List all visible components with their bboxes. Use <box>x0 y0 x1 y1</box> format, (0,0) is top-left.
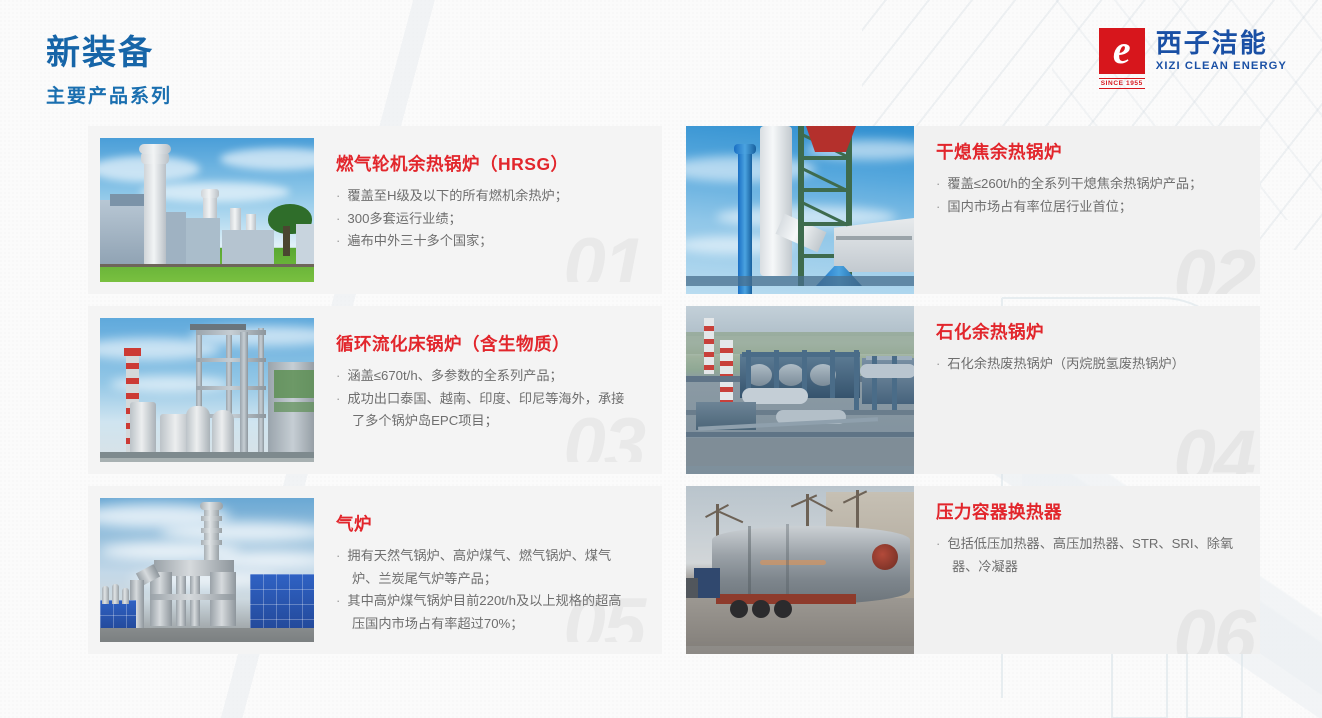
gas-fired-boiler-plant-photo <box>100 498 314 642</box>
card-watermark-number-01: 01 <box>563 228 644 282</box>
bullet-text: 包括低压加热器、高压加热器、STR、SRI、除氧器、冷凝器 <box>947 536 1233 574</box>
card-title-06: 压力容器换热器 <box>936 502 1242 524</box>
product-card-06[interactable]: 压力容器换热器 ·包括低压加热器、高压加热器、STR、SRI、除氧器、冷凝器 0… <box>686 486 1260 654</box>
logo-since-text: SINCE 1955 <box>1099 78 1145 89</box>
product-card-01[interactable]: 燃气轮机余热锅炉（HRSG） ·覆盖至H级及以下的所有燃机余热炉； ·300多套… <box>88 126 662 294</box>
card-bullets-04: ·石化余热废热锅炉（丙烷脱氢废热锅炉） <box>936 353 1242 376</box>
bullet-text: 覆盖至H级及以下的所有燃机余热炉； <box>347 188 568 203</box>
title-block: 新装备 主要产品系列 <box>46 33 172 108</box>
bullet-marker: · <box>336 188 340 203</box>
card-body-01: 燃气轮机余热锅炉（HRSG） ·覆盖至H级及以下的所有燃机余热炉； ·300多套… <box>314 138 650 282</box>
card-body-02: 干熄焦余热锅炉 ·覆盖≤260t/h的全系列干熄焦余热锅炉产品； ·国内市场占有… <box>914 126 1260 294</box>
logo-e-letter: e <box>1099 28 1145 74</box>
bullet-marker: · <box>336 368 340 383</box>
list-item: ·覆盖至H级及以下的所有燃机余热炉； <box>336 185 632 208</box>
logo-e-icon: e <box>1099 28 1145 74</box>
page-subtitle: 主要产品系列 <box>46 81 172 108</box>
product-card-03[interactable]: 循环流化床锅炉（含生物质） ·涵盖≤670t/h、多参数的全系列产品； ·成功出… <box>88 306 662 474</box>
dry-quenching-coke-plant-photo <box>686 126 914 294</box>
logo-name-en: XIZI CLEAN ENERGY <box>1156 60 1287 72</box>
product-card-grid: 燃气轮机余热锅炉（HRSG） ·覆盖至H级及以下的所有燃机余热炉； ·300多套… <box>88 126 1260 654</box>
card-body-05: 气炉 ·拥有天然气锅炉、高炉煤气、燃气锅炉、煤气炉、兰炭尾气炉等产品； ·其中高… <box>314 498 650 642</box>
bullet-marker: · <box>936 199 940 214</box>
bullet-marker: · <box>336 548 340 563</box>
bullet-marker: · <box>336 233 340 248</box>
bullet-marker: · <box>336 391 340 406</box>
pressure-vessel-transport-photo <box>686 486 914 654</box>
card-bullets-06: ·包括低压加热器、高压加热器、STR、SRI、除氧器、冷凝器 <box>936 533 1242 578</box>
card-body-04: 石化余热锅炉 ·石化余热废热锅炉（丙烷脱氢废热锅炉） 04 <box>914 306 1260 474</box>
logo-mark: e SINCE 1955 <box>1099 28 1145 89</box>
page-title: 新装备 <box>46 33 172 73</box>
logo-name-cn: 西子洁能 <box>1156 30 1287 57</box>
product-card-02[interactable]: 干熄焦余热锅炉 ·覆盖≤260t/h的全系列干熄焦余热锅炉产品； ·国内市场占有… <box>686 126 1260 294</box>
list-item: ·涵盖≤670t/h、多参数的全系列产品； <box>336 365 632 388</box>
gas-turbine-combined-cycle-plant-photo <box>100 138 314 282</box>
petrochemical-refinery-photo <box>686 306 914 474</box>
product-card-04[interactable]: 石化余热锅炉 ·石化余热废热锅炉（丙烷脱氢废热锅炉） 04 <box>686 306 1260 474</box>
bullet-text: 国内市场占有率位居行业首位； <box>947 199 1132 214</box>
bullet-marker: · <box>336 593 340 608</box>
list-item: ·国内市场占有率位居行业首位； <box>936 196 1242 219</box>
card-bullets-02: ·覆盖≤260t/h的全系列干熄焦余热锅炉产品； ·国内市场占有率位居行业首位； <box>936 173 1242 218</box>
card-watermark-number-04: 04 <box>1173 420 1254 474</box>
page-header: 新装备 主要产品系列 e SINCE 1955 西子洁能 XIZI CLEAN … <box>0 0 1322 120</box>
card-title-04: 石化余热锅炉 <box>936 322 1242 344</box>
list-item: ·石化余热废热锅炉（丙烷脱氢废热锅炉） <box>936 353 1242 376</box>
card-body-03: 循环流化床锅炉（含生物质） ·涵盖≤670t/h、多参数的全系列产品； ·成功出… <box>314 318 650 462</box>
card-title-03: 循环流化床锅炉（含生物质） <box>336 334 632 356</box>
bullet-text: 遍布中外三十多个国家； <box>347 233 492 248</box>
card-title-02: 干熄焦余热锅炉 <box>936 142 1242 164</box>
card-body-06: 压力容器换热器 ·包括低压加热器、高压加热器、STR、SRI、除氧器、冷凝器 0… <box>914 486 1260 654</box>
list-item: ·覆盖≤260t/h的全系列干熄焦余热锅炉产品； <box>936 173 1242 196</box>
card-watermark-number-05: 05 <box>563 588 644 642</box>
bullet-text: 覆盖≤260t/h的全系列干熄焦余热锅炉产品； <box>947 176 1202 191</box>
bullet-text: 石化余热废热锅炉（丙烷脱氢废热锅炉） <box>947 356 1184 371</box>
list-item: ·包括低压加热器、高压加热器、STR、SRI、除氧器、冷凝器 <box>936 533 1242 578</box>
logo-wordmark: 西子洁能 XIZI CLEAN ENERGY <box>1156 28 1287 72</box>
circulating-fluidized-bed-boiler-photo <box>100 318 314 462</box>
bullet-marker: · <box>336 211 340 226</box>
card-title-01: 燃气轮机余热锅炉（HRSG） <box>336 154 632 176</box>
company-logo: e SINCE 1955 西子洁能 XIZI CLEAN ENERGY <box>1099 28 1287 89</box>
bullet-text: 拥有天然气锅炉、高炉煤气、燃气锅炉、煤气炉、兰炭尾气炉等产品； <box>347 548 611 586</box>
bullet-marker: · <box>936 536 940 551</box>
product-card-05[interactable]: 气炉 ·拥有天然气锅炉、高炉煤气、燃气锅炉、煤气炉、兰炭尾气炉等产品； ·其中高… <box>88 486 662 654</box>
bullet-text: 300多套运行业绩； <box>347 211 461 226</box>
card-watermark-number-02: 02 <box>1173 240 1254 294</box>
card-watermark-number-03: 03 <box>563 408 644 462</box>
bullet-marker: · <box>936 356 940 371</box>
card-title-05: 气炉 <box>336 514 632 536</box>
card-watermark-number-06: 06 <box>1173 600 1254 654</box>
bullet-marker: · <box>936 176 940 191</box>
bullet-text: 涵盖≤670t/h、多参数的全系列产品； <box>347 368 562 383</box>
